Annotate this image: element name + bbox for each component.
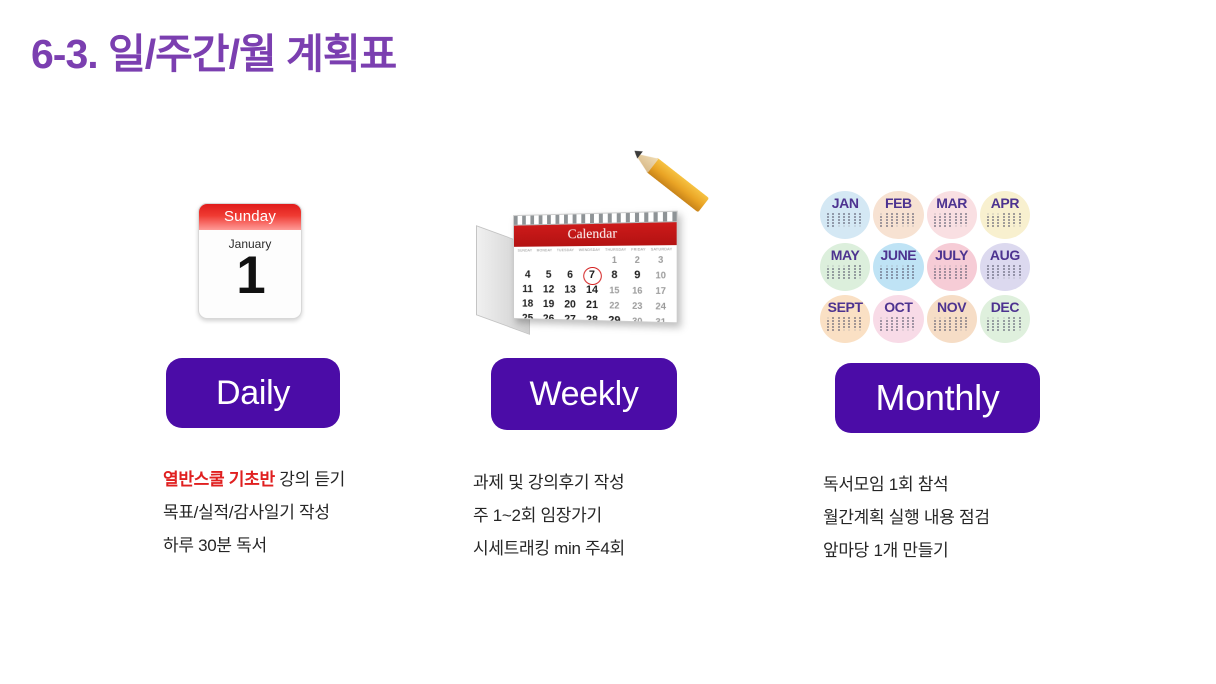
weekday-abbr: FRIDAY — [631, 247, 645, 251]
monthly-icon-area: JANFEBMARAPRMAYJUNEJULYAUGSEPTOCTNOVDEC — [810, 185, 1060, 345]
desk-calendar-date-grid: 1 2 3 4 5 6 7 8 9 10 — [514, 251, 677, 323]
month-circle-jan: JAN — [820, 191, 870, 239]
month-circle-mar: MAR — [927, 191, 977, 239]
weekday-abbr: TUESDAY — [557, 248, 574, 252]
date-cell: 5 — [539, 268, 558, 283]
month-label: JAN — [820, 196, 870, 210]
date-cell: 19 — [539, 297, 558, 312]
weekday-abbr: WENDSDAY — [579, 248, 601, 252]
month-circle-feb: FEB — [873, 191, 923, 239]
month-circle-aug: AUG — [980, 243, 1030, 291]
twelve-month-circles-icon: JANFEBMARAPRMAYJUNEJULYAUGSEPTOCTNOVDEC — [820, 191, 1030, 343]
date-cell: 10 — [650, 268, 671, 284]
date-cell: 21 — [582, 298, 602, 313]
list-item: 과제 및 강의후기 작성 — [473, 466, 753, 499]
date-row: 1 2 3 — [519, 252, 672, 268]
calendar-page-icon: Sunday January 1 — [198, 203, 302, 319]
month-label: DEC — [980, 300, 1030, 314]
plan-column-monthly: JANFEBMARAPRMAYJUNEJULYAUGSEPTOCTNOVDEC … — [810, 185, 1060, 345]
month-circle-nov: NOV — [927, 295, 977, 343]
date-cell: 30 — [627, 314, 647, 324]
slide-canvas: 6-3. 일/주간/월 계획표 Sunday January 1 Daily 열… — [0, 0, 1216, 684]
date-cell: 1 — [604, 253, 624, 268]
date-cell: 6 — [561, 268, 580, 283]
date-cell: 22 — [604, 298, 624, 314]
calendar-page-day: 1 — [199, 250, 301, 302]
month-label: APR — [980, 196, 1030, 210]
daily-icon-area: Sunday January 1 — [150, 185, 390, 345]
date-cell: 20 — [561, 298, 580, 313]
month-label: JUNE — [873, 248, 923, 262]
mini-date-grid — [827, 213, 863, 227]
mini-date-grid — [987, 265, 1023, 279]
date-cell: 17 — [650, 283, 671, 299]
date-cell: 26 — [539, 312, 558, 324]
month-label: MAR — [927, 196, 977, 210]
date-cell: 29 — [604, 313, 624, 323]
date-cell: 23 — [627, 299, 647, 315]
weekly-notes: 과제 및 강의후기 작성 주 1~2회 임장가기 시세트래킹 min 주4회 — [473, 466, 753, 565]
pencil-icon — [626, 141, 710, 214]
month-label: AUG — [980, 248, 1030, 262]
note-emphasis: 열반스쿨 기초반 — [163, 470, 275, 489]
date-cell: 31 — [650, 314, 671, 323]
date-cell: 13 — [561, 283, 580, 298]
mini-date-grid — [880, 317, 916, 331]
monthly-notes: 독서모임 1회 참석 월간계획 실행 내용 점검 앞마당 1개 만들기 — [823, 468, 1103, 567]
month-label: FEB — [873, 196, 923, 210]
mini-date-grid — [987, 317, 1023, 331]
mini-date-grid — [880, 213, 916, 227]
mini-date-grid — [880, 265, 916, 279]
desk-calendar-body: Calendar SUNDAY MONDAY TUESDAY WENDSDAY … — [513, 211, 678, 324]
month-label: SEPT — [820, 300, 870, 314]
date-cell: 14 — [582, 283, 602, 298]
mini-date-grid — [987, 213, 1023, 227]
mini-date-grid — [827, 265, 863, 279]
date-cell: 9 — [627, 268, 647, 283]
weekday-abbr: MONDAY — [537, 248, 553, 252]
month-label: NOV — [927, 300, 977, 314]
calendar-page-weekday: Sunday — [199, 204, 301, 230]
list-item: 시세트래킹 min 주4회 — [473, 532, 753, 565]
date-cell: 12 — [539, 283, 558, 298]
list-item: 목표/실적/감사일기 작성 — [163, 496, 443, 529]
weekly-button[interactable]: Weekly — [491, 358, 677, 430]
daily-notes: 열반스쿨 기초반 강의 듣기 목표/실적/감사일기 작성 하루 30분 독서 — [163, 463, 443, 562]
month-circle-june: JUNE — [873, 243, 923, 291]
date-row: 4 5 6 7 8 9 10 — [519, 268, 672, 284]
mini-date-grid — [827, 317, 863, 331]
date-cell: 24 — [650, 299, 671, 315]
weekly-icon-area: Calendar SUNDAY MONDAY TUESDAY WENDSDAY … — [460, 185, 710, 345]
list-item: 열반스쿨 기초반 강의 듣기 — [163, 463, 443, 496]
month-label: OCT — [873, 300, 923, 314]
daily-button[interactable]: Daily — [166, 358, 340, 428]
plan-columns: Sunday January 1 Daily 열반스쿨 기초반 강의 듣기 목표… — [0, 185, 1216, 585]
list-item: 하루 30분 독서 — [163, 529, 443, 562]
desk-calendar-pencil-icon: Calendar SUNDAY MONDAY TUESDAY WENDSDAY … — [468, 195, 698, 335]
weekday-abbr: THURSDAY — [605, 248, 626, 252]
plan-column-daily: Sunday January 1 Daily 열반스쿨 기초반 강의 듣기 목표… — [150, 185, 390, 345]
mini-date-grid — [934, 265, 970, 279]
list-item: 주 1~2회 임장가기 — [473, 499, 753, 532]
desk-calendar-header: Calendar — [514, 222, 677, 247]
date-cell: 18 — [519, 297, 537, 312]
note-text: 강의 듣기 — [275, 470, 345, 489]
list-item: 앞마당 1개 만들기 — [823, 534, 1103, 567]
plan-column-weekly: Calendar SUNDAY MONDAY TUESDAY WENDSDAY … — [460, 185, 710, 345]
date-cell: 8 — [604, 268, 624, 283]
monthly-button[interactable]: Monthly — [835, 363, 1040, 433]
month-circle-sept: SEPT — [820, 295, 870, 343]
date-cell: 2 — [627, 253, 647, 268]
date-cell: 28 — [582, 313, 602, 324]
mini-date-grid — [934, 213, 970, 227]
page-title: 6-3. 일/주간/월 계획표 — [31, 20, 396, 80]
month-circle-apr: APR — [980, 191, 1030, 239]
date-cell: 15 — [604, 283, 624, 298]
month-circle-july: JULY — [927, 243, 977, 291]
list-item: 월간계획 실행 내용 점검 — [823, 501, 1103, 534]
month-circle-dec: DEC — [980, 295, 1030, 343]
date-cell: 3 — [650, 252, 671, 268]
month-label: MAY — [820, 248, 870, 262]
date-cell: 4 — [519, 268, 537, 283]
date-cell-circled: 7 — [582, 268, 602, 283]
month-circle-may: MAY — [820, 243, 870, 291]
weekday-abbr: SATURDAY — [651, 247, 673, 251]
month-label: JULY — [927, 248, 977, 262]
date-cell: 27 — [561, 312, 580, 323]
month-circle-oct: OCT — [873, 295, 923, 343]
weekday-abbr: SUNDAY — [518, 249, 533, 253]
date-cell: 11 — [519, 282, 537, 297]
desk-calendar-weekdays: SUNDAY MONDAY TUESDAY WENDSDAY THURSDAY … — [514, 245, 677, 252]
mini-date-grid — [934, 317, 970, 331]
date-cell: 16 — [627, 283, 647, 299]
list-item: 독서모임 1회 참석 — [823, 468, 1103, 501]
